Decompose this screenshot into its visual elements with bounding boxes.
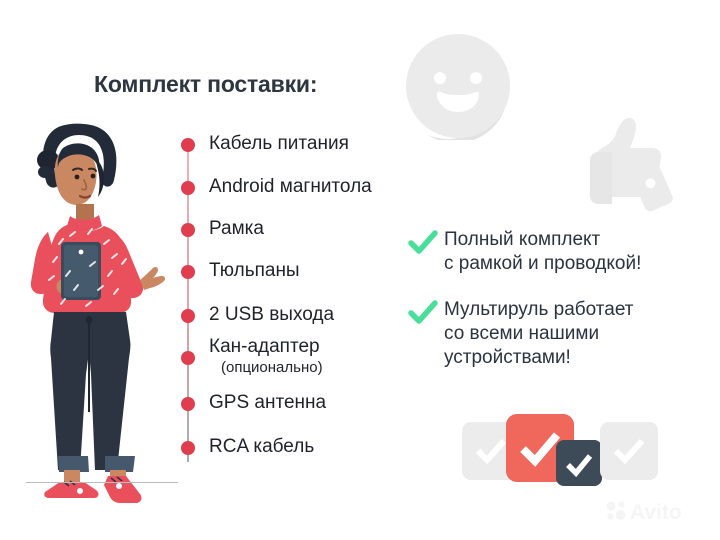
list-item-label: Кан-адаптер: [209, 334, 320, 360]
check-icon: [408, 300, 438, 326]
page-title: Комплект поставки:: [94, 71, 317, 98]
avito-watermark: Avito: [604, 498, 704, 524]
benefit-text: Мультируль работает со всеми нашими устр…: [444, 298, 641, 370]
list-item-label: Кабель питания: [209, 131, 349, 157]
check-icon: [612, 436, 646, 466]
bullet-dot-icon: [181, 397, 195, 411]
benefit-item: Полный комплект с рамкой и проводкой!: [408, 228, 641, 276]
list-item-label: Android магнитола: [209, 174, 372, 200]
ground-line: [26, 482, 178, 483]
list-item-label: Тюльпаны: [209, 258, 300, 284]
benefits-block: Полный комплект с рамкой и проводкой! Му…: [408, 228, 641, 384]
smiley-face-icon: [404, 32, 512, 140]
list-item-label: RCA кабель: [209, 434, 314, 460]
benefit-item: Мультируль работает со всеми нашими устр…: [408, 298, 641, 370]
thumbs-up-icon: [572, 112, 684, 216]
list-item-label: Рамка: [209, 216, 264, 242]
bullet-dot-icon: [181, 441, 195, 455]
bullet-dot-icon: [181, 223, 195, 237]
check-icon: [408, 230, 438, 256]
woman-with-tablet-illustration: [4, 104, 184, 504]
list-item-sublabel: (опционально): [221, 358, 323, 378]
list-item-label: GPS антенна: [209, 390, 326, 416]
benefit-text: Полный комплект с рамкой и проводкой!: [444, 228, 641, 276]
bullet-dot-icon: [181, 351, 195, 365]
bullet-dot-icon: [181, 138, 195, 152]
bullet-dot-icon: [181, 309, 195, 323]
avito-wordmark: Avito: [630, 501, 682, 524]
promo-image-canvas: Комплект поставки: Кабель питания Androi…: [0, 0, 720, 540]
check-icon: [474, 436, 508, 466]
bullet-dot-icon: [181, 181, 195, 195]
list-item-label: 2 USB выхода: [209, 302, 334, 328]
delivery-set-list: Кабель питания Android магнитола Рамка Т…: [172, 130, 412, 470]
bullet-dot-icon: [181, 265, 195, 279]
checkbox-cluster-icon: [462, 408, 658, 492]
check-icon: [564, 452, 594, 478]
